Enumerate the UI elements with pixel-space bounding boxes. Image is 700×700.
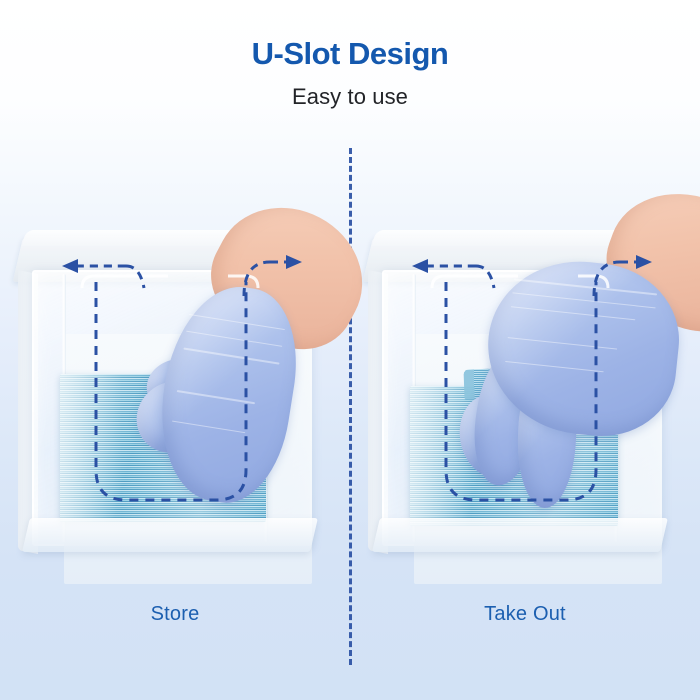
header-block: U-Slot Design Easy to use bbox=[0, 0, 700, 110]
page-subtitle: Easy to use bbox=[0, 71, 700, 110]
box-base bbox=[372, 518, 668, 552]
caption-take-out: Take Out bbox=[350, 603, 700, 626]
dispenser-box-right bbox=[368, 218, 672, 570]
marketing-image: U-Slot Design Easy to use bbox=[0, 0, 700, 700]
caption-store: Store bbox=[0, 603, 350, 626]
page-title: U-Slot Design bbox=[0, 0, 700, 71]
panel-store: arrow-left arrow-right bbox=[0, 200, 350, 600]
dispenser-box-left bbox=[18, 218, 322, 570]
panel-take-out: arrow-left arrow-right bbox=[350, 200, 700, 600]
box-base bbox=[22, 518, 318, 552]
